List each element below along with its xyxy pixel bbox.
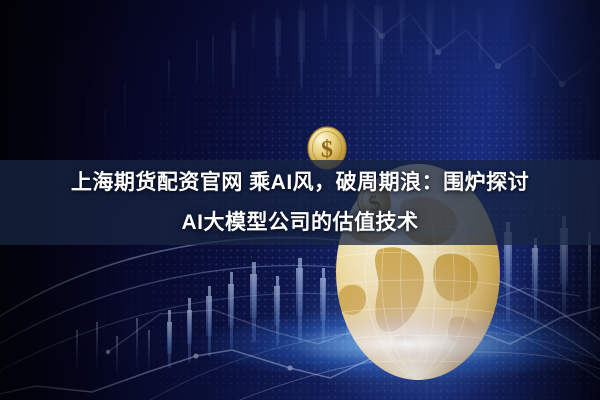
promo-banner: $ $ 上海期货配资官网 乘AI风，破周期浪：围炉探讨 AI大模型公司的估值技术	[0, 0, 600, 400]
light-arc-curves	[0, 238, 600, 400]
headline-line-1: 上海期货配资官网 乘AI风，破周期浪：围炉探讨	[71, 163, 529, 203]
line-chart-top	[352, 4, 596, 87]
headline-line-2: AI大模型公司的估值技术	[182, 203, 419, 243]
line-chart-bottom	[0, 288, 600, 396]
candlestick-group-top	[168, 0, 538, 96]
candlestick-group-left	[86, 84, 126, 140]
headline: 上海期货配资官网 乘AI风，破周期浪：围炉探讨 AI大模型公司的估值技术	[0, 160, 600, 245]
